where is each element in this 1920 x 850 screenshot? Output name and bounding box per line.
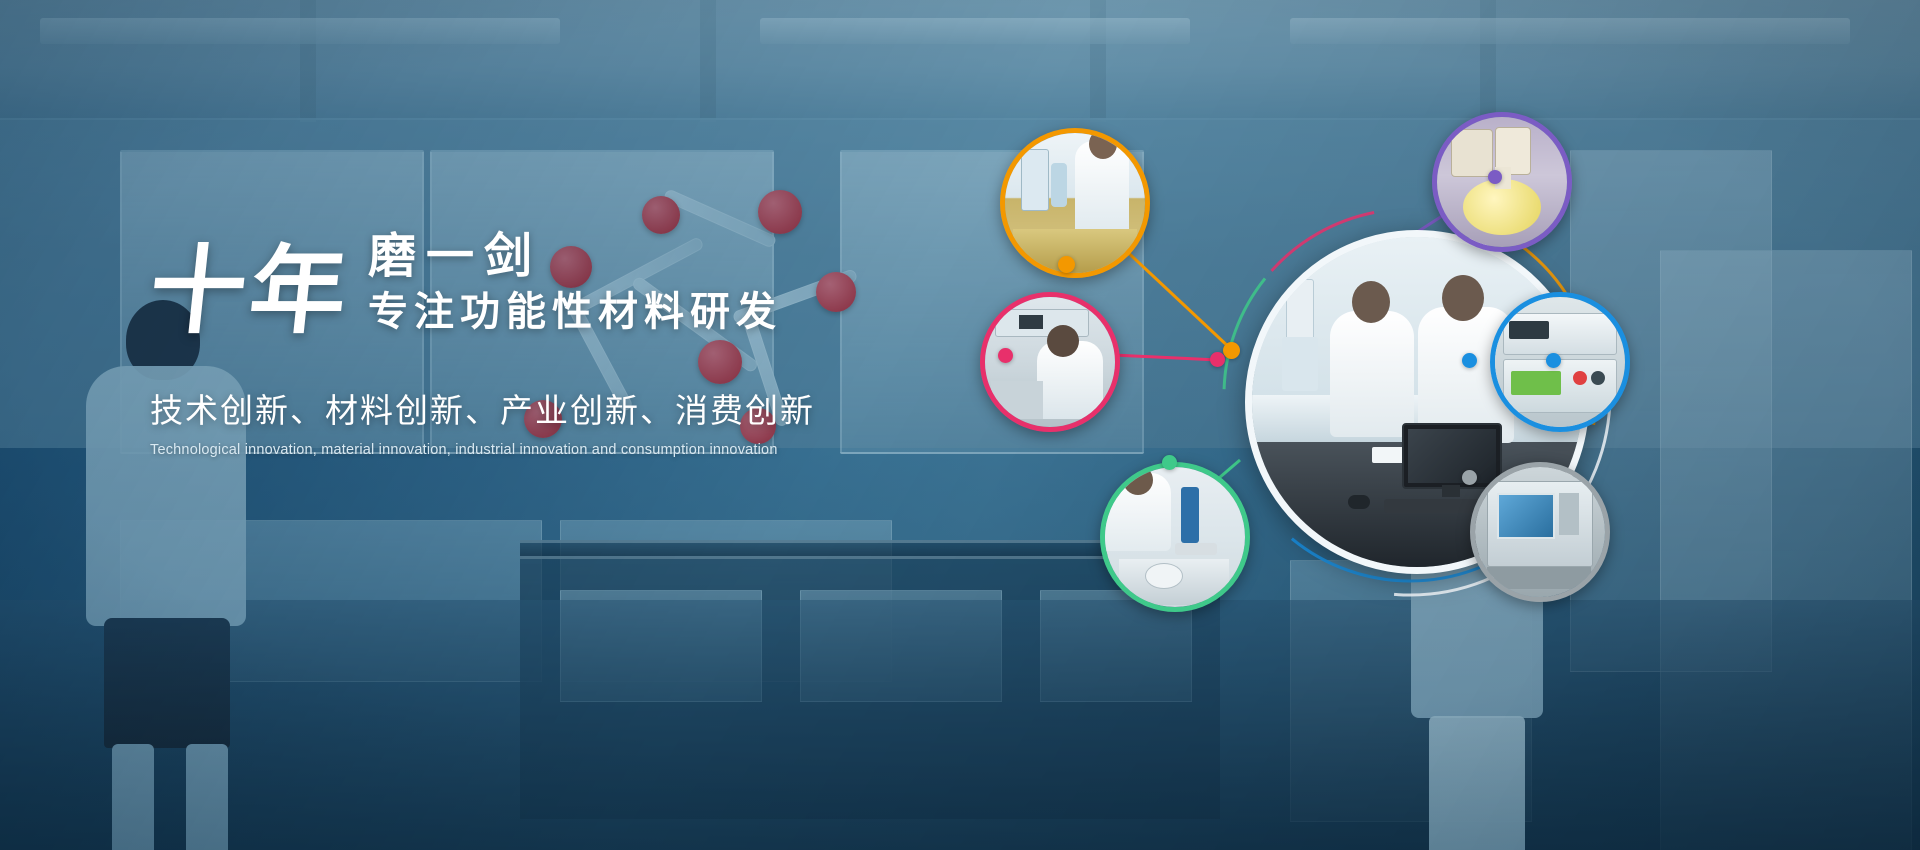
node-microscope-work: [1100, 462, 1250, 612]
circular-collage: [1000, 110, 1620, 730]
connector-dot-blue-2: [1462, 353, 1477, 368]
connector-dot-orange-2: [1223, 342, 1240, 359]
connector-dot-orange: [1058, 256, 1075, 273]
connector-dot-pink-2: [1210, 352, 1225, 367]
headline-line-2: 专注功能性材料研发: [368, 290, 782, 334]
node-testing-machine: [1470, 462, 1610, 602]
connector-dot-pink: [998, 348, 1013, 363]
headline-block: 十年 磨一剑 专注功能性材料研发 技术创新、材料创新、产业创新、消费创新 Tec…: [150, 232, 890, 458]
node-flask-yellow-liquid: [1432, 112, 1572, 252]
connector-dot-purple: [1488, 170, 1502, 184]
connector-dot-green: [1162, 455, 1177, 470]
headline-line-1: 磨一剑: [368, 232, 782, 282]
subtitle-chinese: 技术创新、材料创新、产业创新、消费创新: [150, 384, 890, 432]
headline-brush-text: 十年: [145, 244, 355, 340]
connector-dot-gray: [1462, 470, 1477, 485]
connector-dot-blue: [1546, 353, 1561, 368]
banner-stage: 十年 磨一剑 专注功能性材料研发 技术创新、材料创新、产业创新、消费创新 Tec…: [0, 0, 1920, 850]
node-reactor-setup: [1000, 128, 1150, 278]
subtitle-english: Technological innovation, material innov…: [150, 442, 890, 458]
